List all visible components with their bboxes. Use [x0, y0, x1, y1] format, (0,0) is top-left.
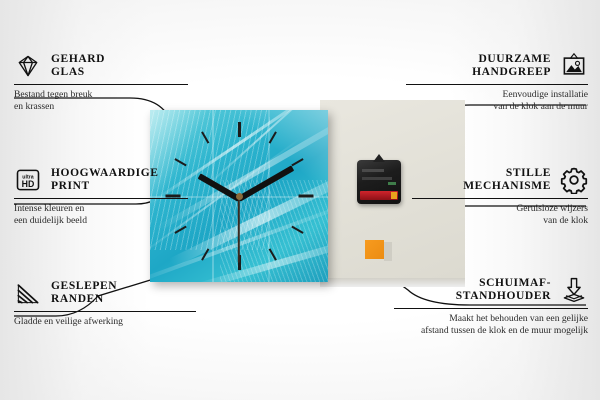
- feature-schuimaf-standhouder: SCHUIMAF- STANDHOUDER Maakt het behouden…: [394, 276, 588, 337]
- feature-divider: [14, 198, 188, 199]
- clock-tick: [291, 158, 303, 166]
- feature-title: HOOGWAARDIGE PRINT: [51, 167, 159, 194]
- mechanism-battery: [360, 191, 398, 200]
- bevelled-edges-icon: [14, 279, 42, 307]
- feature-description-line: en krassen: [14, 101, 188, 113]
- feature-description-line: Geruisloze wijzers: [412, 203, 588, 215]
- clock-tick: [299, 195, 314, 198]
- gear-icon: [560, 166, 588, 194]
- feature-description-line: Gladde en veilige afwerking: [14, 316, 196, 328]
- clock-tick: [238, 122, 241, 137]
- feature-title: SCHUIMAF- STANDHOUDER: [456, 277, 551, 304]
- spacer-press-icon: [560, 276, 588, 304]
- feature-divider: [412, 198, 588, 199]
- feature-gehard-glas: GEHARD GLAS Bestand tegen breuk en krass…: [14, 52, 188, 113]
- feature-duurzame-handgreep: DUURZAME HANDGREEP Eenvoudige installati…: [406, 52, 588, 113]
- feature-header: SCHUIMAF- STANDHOUDER: [394, 276, 588, 304]
- feature-header: DUURZAME HANDGREEP: [406, 52, 588, 80]
- feature-description-line: een duidelijk beeld: [14, 215, 188, 227]
- feature-divider: [394, 308, 588, 309]
- feature-title: STILLE MECHANISME: [463, 167, 551, 194]
- svg-text:HD: HD: [22, 179, 35, 189]
- feature-divider: [14, 84, 188, 85]
- feature-header: GEHARD GLAS: [14, 52, 188, 80]
- feature-divider: [406, 84, 588, 85]
- feature-header: GESLEPEN RANDEN: [14, 279, 196, 307]
- clock-mechanism: [357, 160, 401, 204]
- feature-divider: [14, 311, 196, 312]
- feature-description-line: Maakt het behouden van een gelijke: [394, 313, 588, 325]
- feature-title: GEHARD GLAS: [51, 53, 105, 80]
- diamond-icon: [14, 52, 42, 80]
- foam-spacer-side: [384, 242, 392, 261]
- feature-description-line: van de klok: [412, 215, 588, 227]
- feature-title: GESLEPEN RANDEN: [51, 280, 117, 307]
- feature-header: ultra HD HOOGWAARDIGE PRINT: [14, 166, 188, 194]
- feature-description-line: Bestand tegen breuk: [14, 89, 188, 101]
- feature-hoogwaardige-print: ultra HD HOOGWAARDIGE PRINT Intense kleu…: [14, 166, 188, 227]
- infographic-stage: GEHARD GLAS Bestand tegen breuk en krass…: [0, 0, 600, 400]
- foam-spacer: [365, 240, 384, 259]
- feature-geslepen-randen: GESLEPEN RANDEN Gladde en veilige afwerk…: [14, 279, 196, 328]
- mechanism-detail: [362, 169, 384, 172]
- ultra-hd-icon: ultra HD: [14, 166, 42, 194]
- picture-frame-icon: [560, 52, 588, 80]
- feature-description-line: Eenvoudige installatie: [406, 89, 588, 101]
- feature-header: STILLE MECHANISME: [412, 166, 588, 194]
- clock-second-hand: [238, 197, 240, 263]
- clock-pivot: [236, 193, 243, 200]
- feature-description-line: Intense kleuren en: [14, 203, 188, 215]
- mechanism-detail: [388, 182, 396, 185]
- feature-description-line: van de klok aan de muur: [406, 101, 588, 113]
- feature-description-line: afstand tussen de klok en de muur mogeli…: [394, 325, 588, 337]
- mechanism-detail: [362, 177, 392, 180]
- feature-title: DUURZAME HANDGREEP: [472, 53, 551, 80]
- feature-stille-mechanisme: STILLE MECHANISME Geruisloze wijzers van…: [412, 166, 588, 227]
